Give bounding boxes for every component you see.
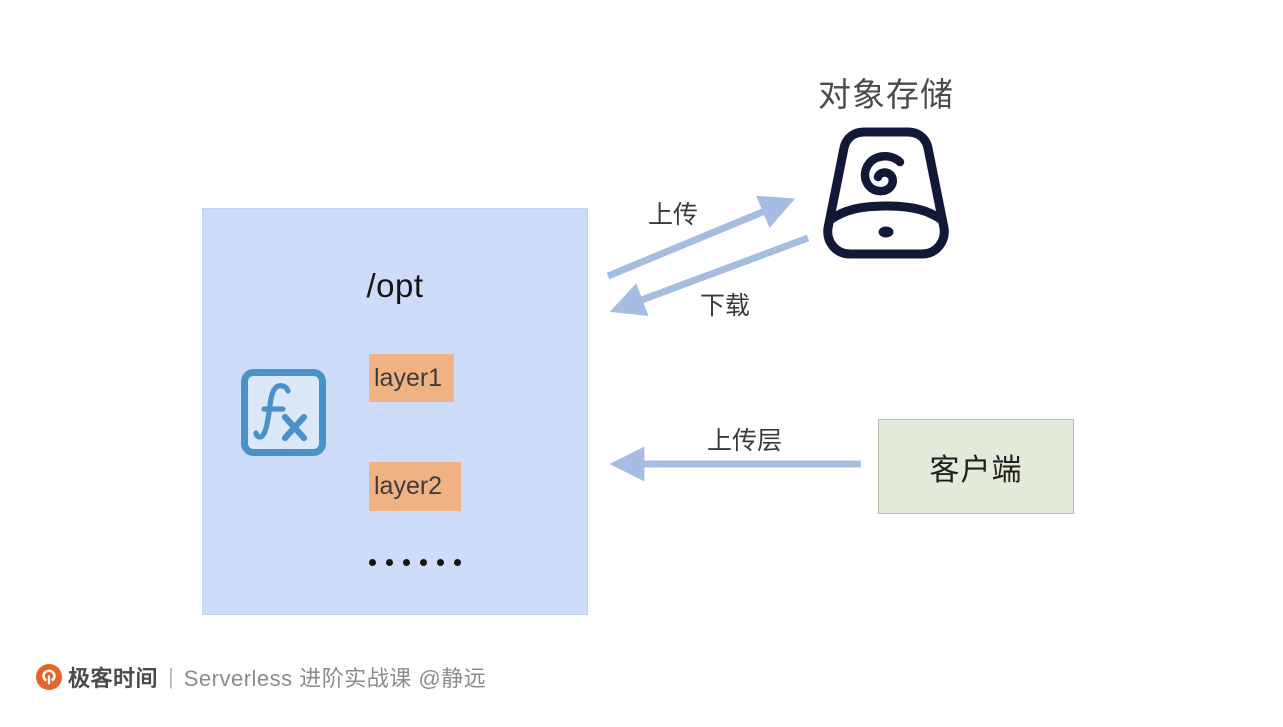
dot	[454, 559, 461, 566]
ellipsis-dots	[369, 550, 461, 574]
object-storage-drum-icon	[814, 124, 958, 262]
arrow-layer	[0, 0, 1283, 727]
dot	[403, 559, 410, 566]
slide-canvas: /opt layer1 layer2 对象存储	[0, 0, 1283, 727]
footer-brand: 极客时间	[68, 661, 158, 693]
upload-layer-arrow-label: 上传层	[707, 425, 782, 457]
client-box: 客户端	[878, 419, 1074, 514]
layer2-label: layer2	[374, 474, 442, 499]
geekbang-logo-icon	[36, 664, 62, 690]
opt-panel-title: /opt	[202, 265, 588, 307]
dot	[437, 559, 444, 566]
upload-arrow-label: 上传	[648, 199, 698, 231]
footer-course: Serverless 进阶实战课 @静远	[184, 661, 486, 693]
fx-icon	[240, 368, 327, 457]
dot	[369, 559, 376, 566]
download-arrow-label: 下载	[700, 290, 750, 322]
layer-chip-layer1: layer1	[369, 354, 454, 402]
client-label: 客户端	[930, 445, 1023, 489]
dot	[386, 559, 393, 566]
dot	[420, 559, 427, 566]
layer-chip-layer2: layer2	[369, 462, 461, 511]
footer-divider: |	[168, 664, 174, 690]
footer-watermark: 极客时间 | Serverless 进阶实战课 @静远	[36, 660, 486, 694]
layer1-label: layer1	[374, 366, 442, 391]
object-storage-title: 对象存储	[766, 74, 1006, 116]
